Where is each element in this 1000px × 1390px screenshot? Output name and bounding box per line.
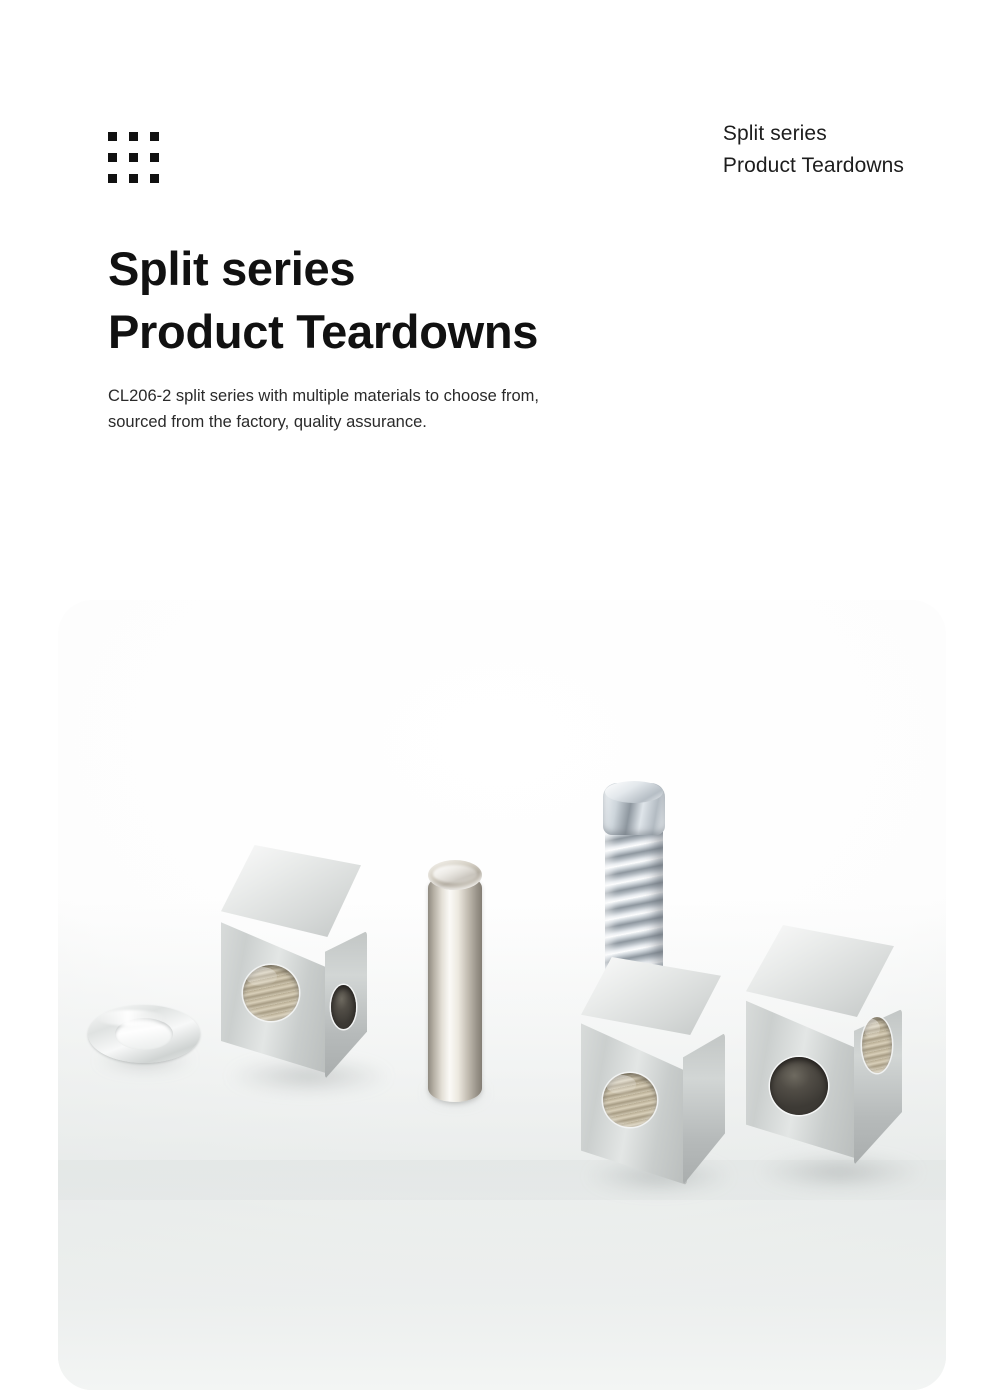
pin-body xyxy=(428,874,482,1102)
component-chrome-block-threaded xyxy=(213,845,398,1090)
page-header: Split series Product Teardowns xyxy=(0,118,1000,208)
block-3-top-face xyxy=(746,925,894,1017)
component-chrome-block-with-bolt xyxy=(563,775,763,1130)
block-3-through-hole xyxy=(770,1057,828,1115)
bolt-head-top-face xyxy=(605,781,663,803)
header-tagline: Split series Product Teardowns xyxy=(723,118,904,182)
product-photo xyxy=(58,600,946,1390)
header-tagline-line-1: Split series xyxy=(723,118,904,150)
component-flat-washer xyxy=(88,1005,200,1063)
block-2-threaded-hole xyxy=(603,1073,657,1127)
page-description: CL206-2 split series with multiple mater… xyxy=(108,383,668,435)
component-dowel-pin xyxy=(426,858,484,1106)
washer-highlight xyxy=(96,1010,166,1026)
product-component-group xyxy=(58,600,946,1390)
block-1-side-hole xyxy=(331,985,356,1029)
header-tagline-line-2: Product Teardowns xyxy=(723,150,904,182)
page-description-line-1: CL206-2 split series with multiple mater… xyxy=(108,383,668,409)
block-2-top-face xyxy=(581,957,721,1035)
page-description-line-2: sourced from the factory, quality assura… xyxy=(108,409,668,435)
dot-grid-icon xyxy=(108,132,172,196)
bolt-threaded-shaft xyxy=(605,819,663,979)
page-title-line-1: Split series xyxy=(108,238,808,301)
block-3-threaded-hole xyxy=(862,1017,892,1073)
block-1-top-face xyxy=(221,845,361,937)
component-chrome-block-through-hole xyxy=(736,925,946,1185)
page-title: Split series Product Teardowns xyxy=(108,238,808,363)
block-1-threaded-hole xyxy=(243,965,299,1021)
pin-top-highlight xyxy=(433,865,477,883)
page-title-line-2: Product Teardowns xyxy=(108,301,808,364)
